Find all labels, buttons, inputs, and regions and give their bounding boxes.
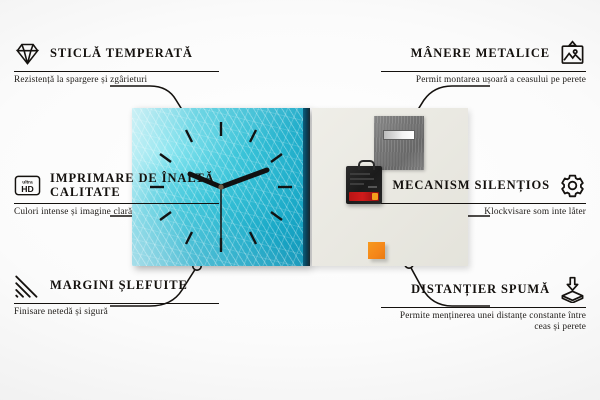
picture-frame-icon bbox=[559, 40, 586, 67]
divider bbox=[14, 71, 219, 72]
callout-subtitle: Culori intense și imagine clară bbox=[14, 207, 219, 218]
diamond-icon bbox=[14, 40, 41, 67]
callout-tempered-glass: STICLĂ TEMPERATĂ Rezistență la spargere … bbox=[14, 40, 219, 86]
diagonal-lines-icon bbox=[14, 272, 41, 299]
callout-title: IMPRIMARE DE ÎNALTĂ CALITATE bbox=[50, 172, 219, 199]
callout-foam-spacer: DISTANȚIER SPUMĂ Permite menținerea unei… bbox=[381, 276, 586, 334]
callout-subtitle: Rezistență la spargere și zgârieturi bbox=[14, 75, 219, 86]
clock-mechanism bbox=[346, 166, 382, 204]
divider bbox=[381, 307, 586, 308]
metal-hanger-plate bbox=[374, 116, 424, 170]
divider bbox=[14, 303, 219, 304]
divider bbox=[381, 203, 586, 204]
infographic-canvas: STICLĂ TEMPERATĂ Rezistență la spargere … bbox=[0, 0, 600, 400]
divider bbox=[14, 203, 219, 204]
foam-spacer bbox=[368, 242, 385, 259]
callout-subtitle: Klockvisare som inte låter bbox=[381, 207, 586, 218]
callout-title: STICLĂ TEMPERATĂ bbox=[50, 47, 193, 61]
callout-title: MÂNERE METALICE bbox=[411, 47, 550, 61]
callout-subtitle: Finisare netedă și sigură bbox=[14, 307, 219, 318]
mechanism-detail bbox=[368, 186, 377, 188]
mechanism-hook bbox=[358, 160, 375, 170]
callout-title: MECANISM SILENȚIOS bbox=[392, 179, 550, 193]
svg-text:HD: HD bbox=[21, 184, 34, 194]
arrow-onto-layers-icon bbox=[559, 276, 586, 303]
mechanism-battery bbox=[349, 192, 379, 201]
callout-metal-handles: MÂNERE METALICE Permit montarea ușoară a… bbox=[381, 40, 586, 86]
callout-subtitle: Permite menținerea unei distanțe constan… bbox=[381, 311, 586, 334]
hanger-slot bbox=[383, 130, 415, 140]
divider bbox=[381, 71, 586, 72]
callout-silent-mechanism: MECANISM SILENȚIOS Klockvisare som inte … bbox=[381, 172, 586, 218]
callout-title: MARGINI ȘLEFUITE bbox=[50, 279, 188, 293]
gear-icon bbox=[559, 172, 586, 199]
callout-subtitle: Permit montarea ușoară a ceasului pe per… bbox=[381, 75, 586, 86]
mechanism-detail bbox=[350, 173, 370, 175]
ultra-hd-icon: ultra HD bbox=[14, 172, 41, 199]
callout-polished-edges: MARGINI ȘLEFUITE Finisare netedă și sigu… bbox=[14, 272, 219, 318]
callout-hd-print: ultra HD IMPRIMARE DE ÎNALTĂ CALITATE Cu… bbox=[14, 172, 219, 218]
mechanism-detail bbox=[350, 178, 374, 180]
mechanism-detail bbox=[350, 183, 364, 185]
callout-title: DISTANȚIER SPUMĂ bbox=[411, 283, 550, 297]
